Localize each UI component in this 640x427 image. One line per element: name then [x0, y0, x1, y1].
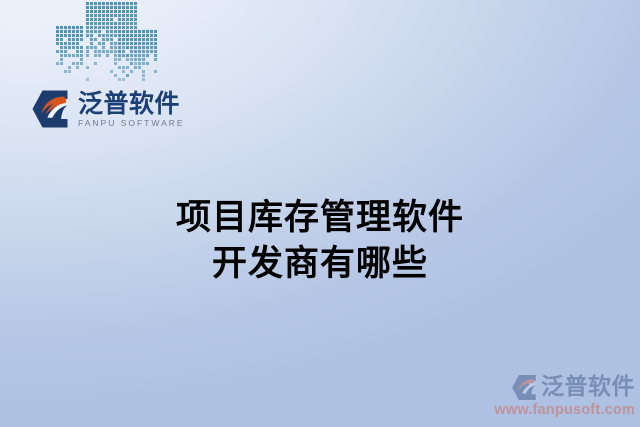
fanpu-watermark: 泛普软件 www.fanpusoft.com — [494, 374, 635, 418]
headline-line-2: 开发商有哪些 — [0, 241, 640, 287]
fanpu-logo-lockup: 泛普软件 FANPU SOFTWARE — [31, 89, 185, 129]
poster-canvas: 泛普软件 FANPU SOFTWARE 项目库存管理软件 开发商有哪些 泛普软件… — [0, 0, 640, 427]
fanpu-logo-name-en: FANPU SOFTWARE — [78, 119, 185, 128]
watermark-name-cn: 泛普软件 — [541, 376, 635, 399]
watermark-logo-row: 泛普软件 — [494, 374, 635, 401]
headline-line-1: 项目库存管理软件 — [0, 195, 640, 241]
fanpu-hexagon-logo-mark-icon — [31, 89, 69, 129]
poster-headline: 项目库存管理软件 开发商有哪些 — [0, 195, 640, 287]
pixel-skyline-decoration — [56, 0, 160, 84]
fanpu-logo-wordmark: 泛普软件 FANPU SOFTWARE — [78, 90, 185, 128]
watermark-hexagon-logo-mark-icon — [511, 374, 537, 401]
watermark-url: www.fanpusoft.com — [494, 403, 635, 418]
fanpu-logo-name-cn: 泛普软件 — [78, 91, 185, 117]
